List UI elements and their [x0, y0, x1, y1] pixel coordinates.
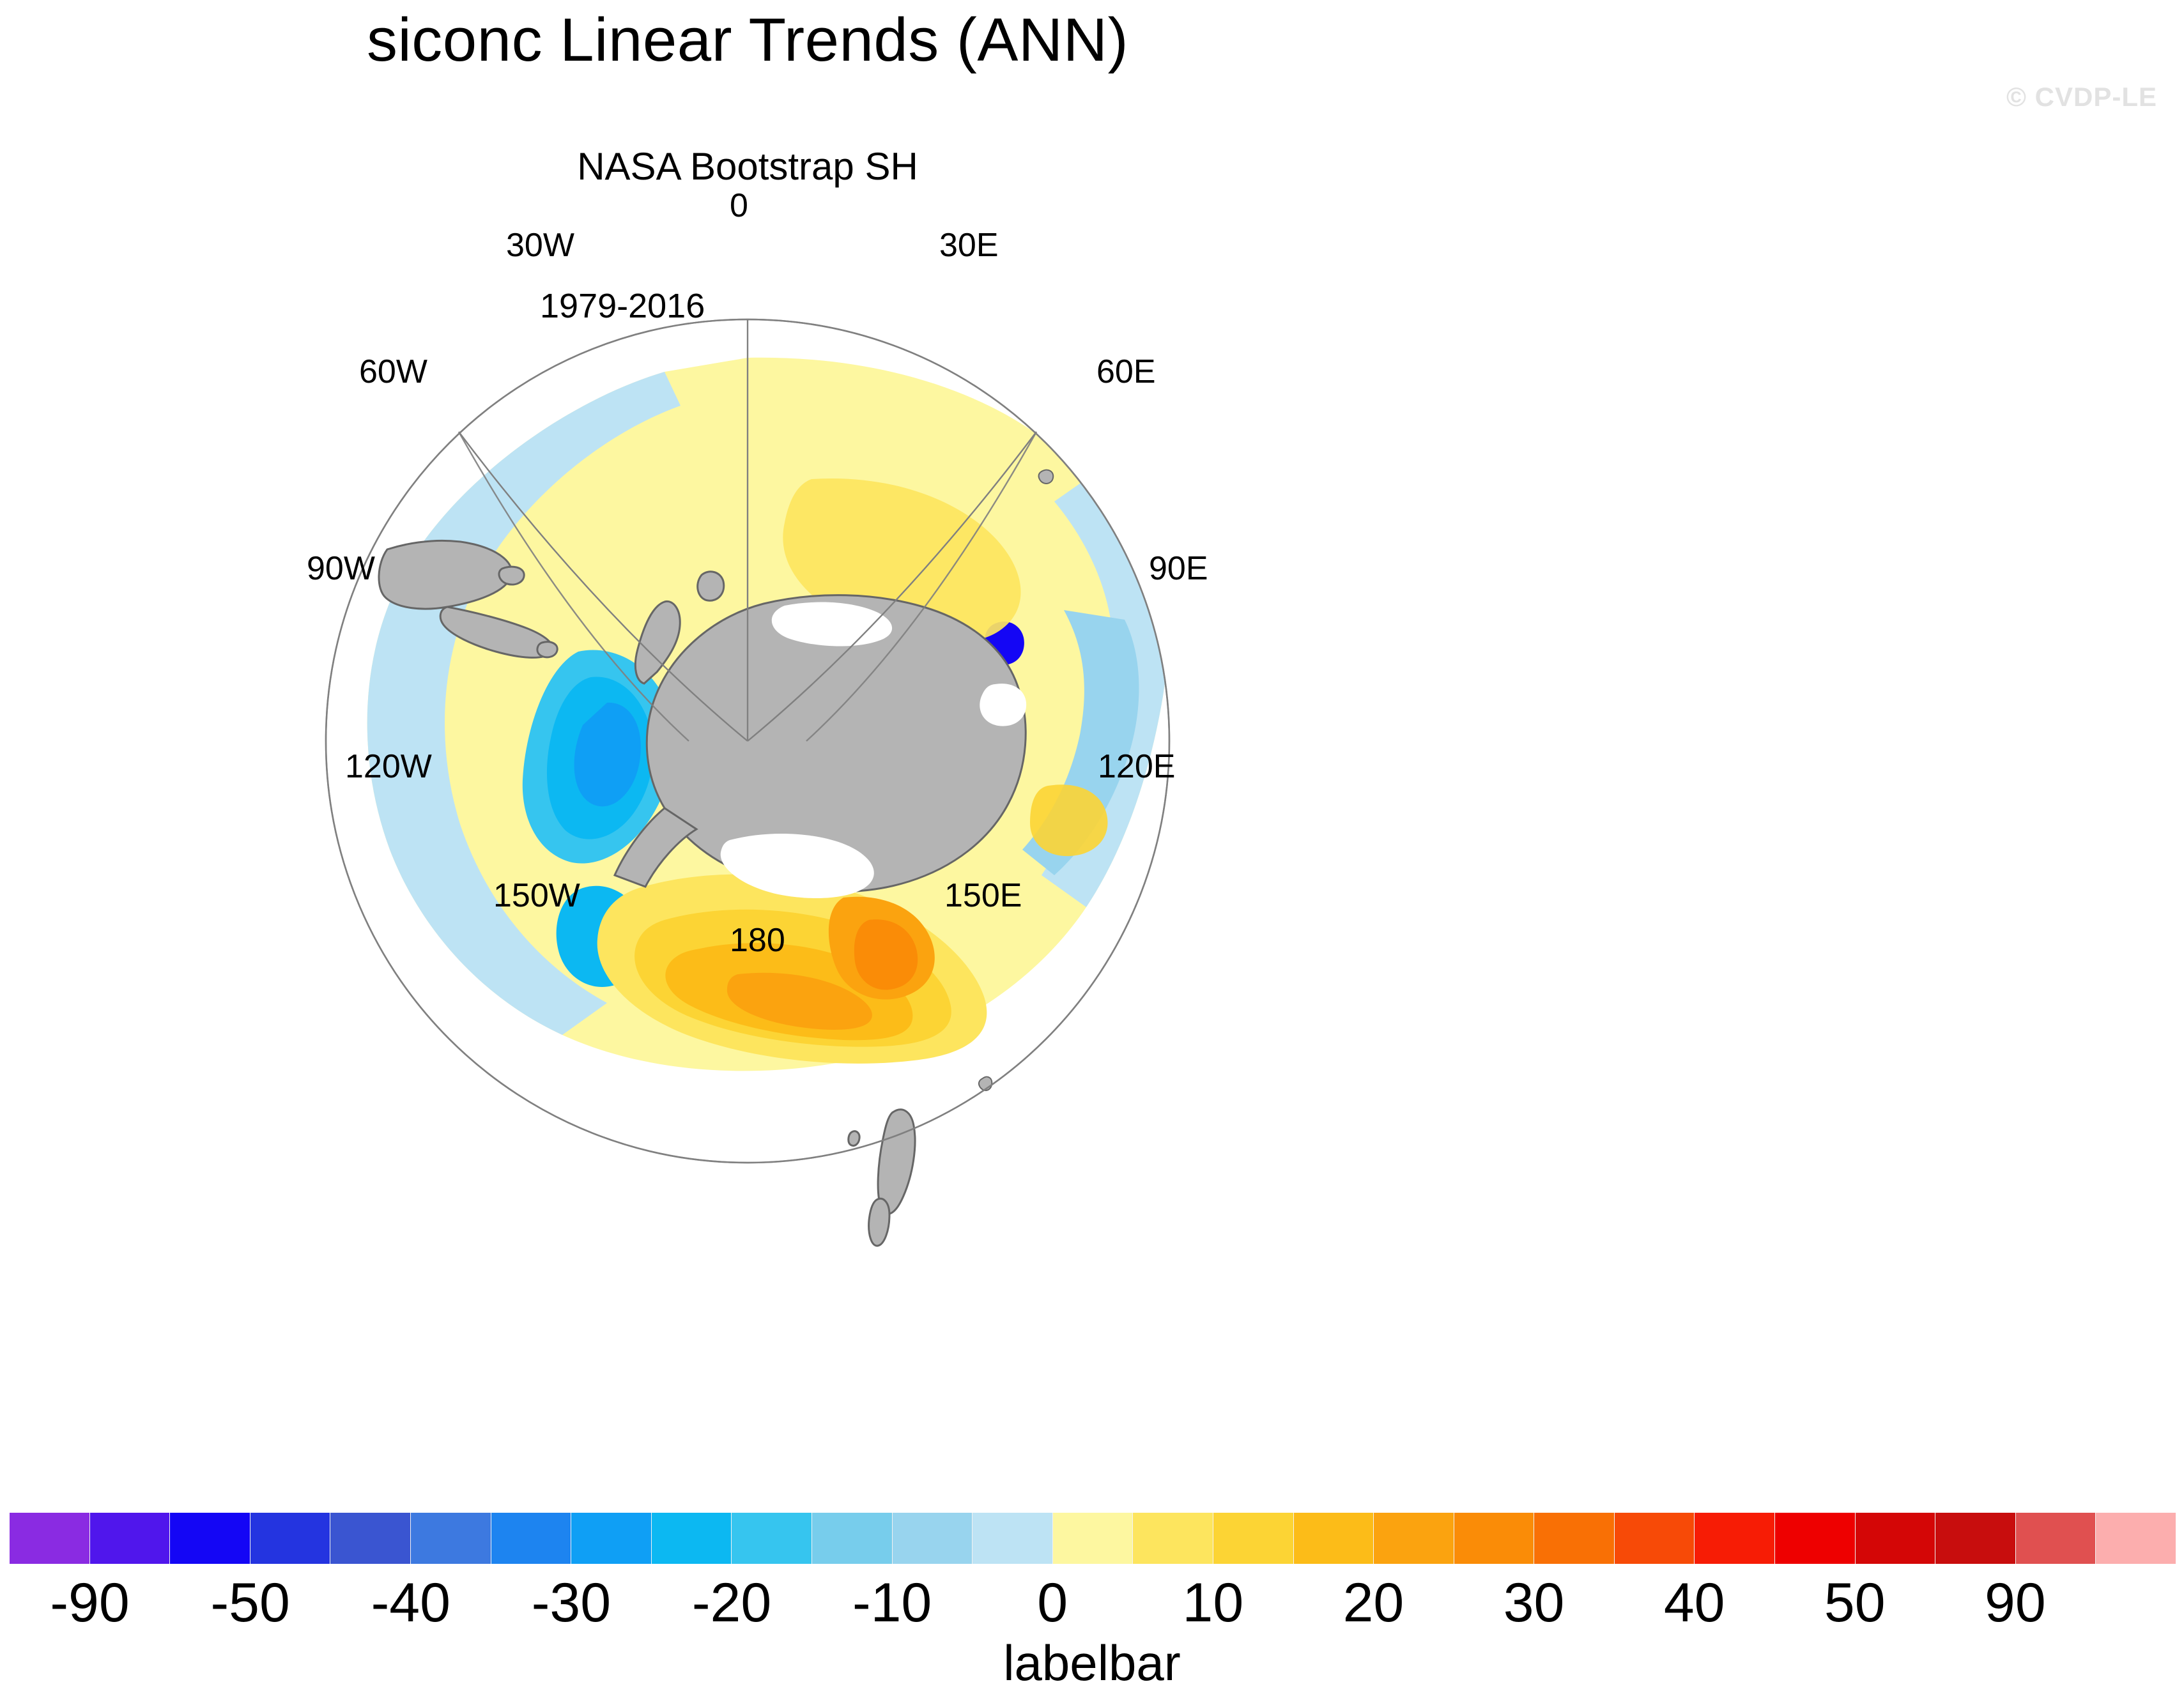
colorbar-label-10: 40	[1664, 1572, 1725, 1635]
lon-label-120w: 120W	[345, 747, 432, 786]
colorbar-swatch-8	[652, 1513, 732, 1564]
colorbar-swatch-7	[571, 1513, 652, 1564]
new-zealand-landmass	[849, 1110, 915, 1246]
colorbar-swatch-17	[1374, 1513, 1454, 1564]
polar-map: 0 30E 60E 90E 120E 150E 180 150W 120W 90…	[0, 211, 1495, 1297]
colorbar-swatch-6	[491, 1513, 572, 1564]
lon-label-90w: 90W	[307, 549, 375, 588]
colorbar-label-9: 30	[1503, 1572, 1565, 1635]
colorbar-label-3: -30	[532, 1572, 611, 1635]
colorbar-label-8: 20	[1343, 1572, 1404, 1635]
sea-ice-trend-field	[367, 358, 1166, 1071]
colorbar-label-1: -50	[211, 1572, 290, 1635]
colorbar-swatch-13	[1053, 1513, 1134, 1564]
lon-label-60w: 60W	[359, 353, 427, 391]
colorbar-swatch-3	[250, 1513, 331, 1564]
colorbar-swatch-26	[2096, 1513, 2176, 1564]
colorbar-label-0: -90	[50, 1572, 129, 1635]
copyright-watermark: © CVDP-LE	[2006, 82, 2157, 112]
colorbar-swatch-11	[893, 1513, 973, 1564]
colorbar-swatch-24	[1935, 1513, 2016, 1564]
colorbar-label-6: 0	[1037, 1572, 1068, 1635]
colorbar-swatch-0	[10, 1513, 90, 1564]
polar-map-svg	[0, 211, 1495, 1297]
lon-label-180: 180	[730, 921, 785, 960]
colorbar: -90-50-40-30-20-100102030405090 labelbar	[0, 1509, 2184, 1694]
colorbar-label-7: 10	[1182, 1572, 1243, 1635]
colorbar-label-4: -20	[692, 1572, 771, 1635]
colorbar-swatch-19	[1534, 1513, 1615, 1564]
colorbar-swatch-21	[1695, 1513, 1775, 1564]
colorbar-swatch-2	[170, 1513, 250, 1564]
colorbar-swatch-1	[90, 1513, 171, 1564]
colorbar-swatch-12	[973, 1513, 1053, 1564]
lon-label-30w: 30W	[506, 226, 574, 264]
lon-label-150e: 150E	[944, 876, 1022, 915]
page-title: siconc Linear Trends (ANN)	[0, 5, 1495, 75]
lon-label-60e: 60E	[1096, 353, 1156, 391]
colorbar-swatch-16	[1294, 1513, 1374, 1564]
colorbar-swatch-4	[330, 1513, 411, 1564]
lon-label-120e: 120E	[1098, 747, 1175, 786]
colorbar-swatch-15	[1213, 1513, 1294, 1564]
colorbar-swatch-5	[411, 1513, 491, 1564]
colorbar-label-5: -10	[852, 1572, 932, 1635]
colorbar-tick-labels: -90-50-40-30-20-100102030405090	[0, 1572, 2184, 1629]
colorbar-swatch-23	[1856, 1513, 1936, 1564]
colorbar-label-11: 50	[1824, 1572, 1886, 1635]
lon-label-0: 0	[730, 187, 748, 225]
lon-label-90e: 90E	[1149, 549, 1208, 588]
colorbar-swatch-25	[2016, 1513, 2096, 1564]
lon-label-150w: 150W	[493, 876, 580, 915]
colorbar-swatch-9	[732, 1513, 812, 1564]
colorbar-swatches[interactable]	[10, 1513, 2176, 1564]
lon-label-30e: 30E	[939, 226, 999, 264]
colorbar-label-12: 90	[1985, 1572, 2046, 1635]
colorbar-label-2: -40	[371, 1572, 450, 1635]
colorbar-swatch-18	[1454, 1513, 1535, 1564]
chart-subtitle: NASA Bootstrap SH	[0, 144, 1495, 188]
colorbar-swatch-22	[1775, 1513, 1856, 1564]
colorbar-title: labelbar	[0, 1634, 2184, 1692]
colorbar-swatch-14	[1133, 1513, 1213, 1564]
colorbar-swatch-10	[812, 1513, 893, 1564]
colorbar-swatch-20	[1615, 1513, 1695, 1564]
